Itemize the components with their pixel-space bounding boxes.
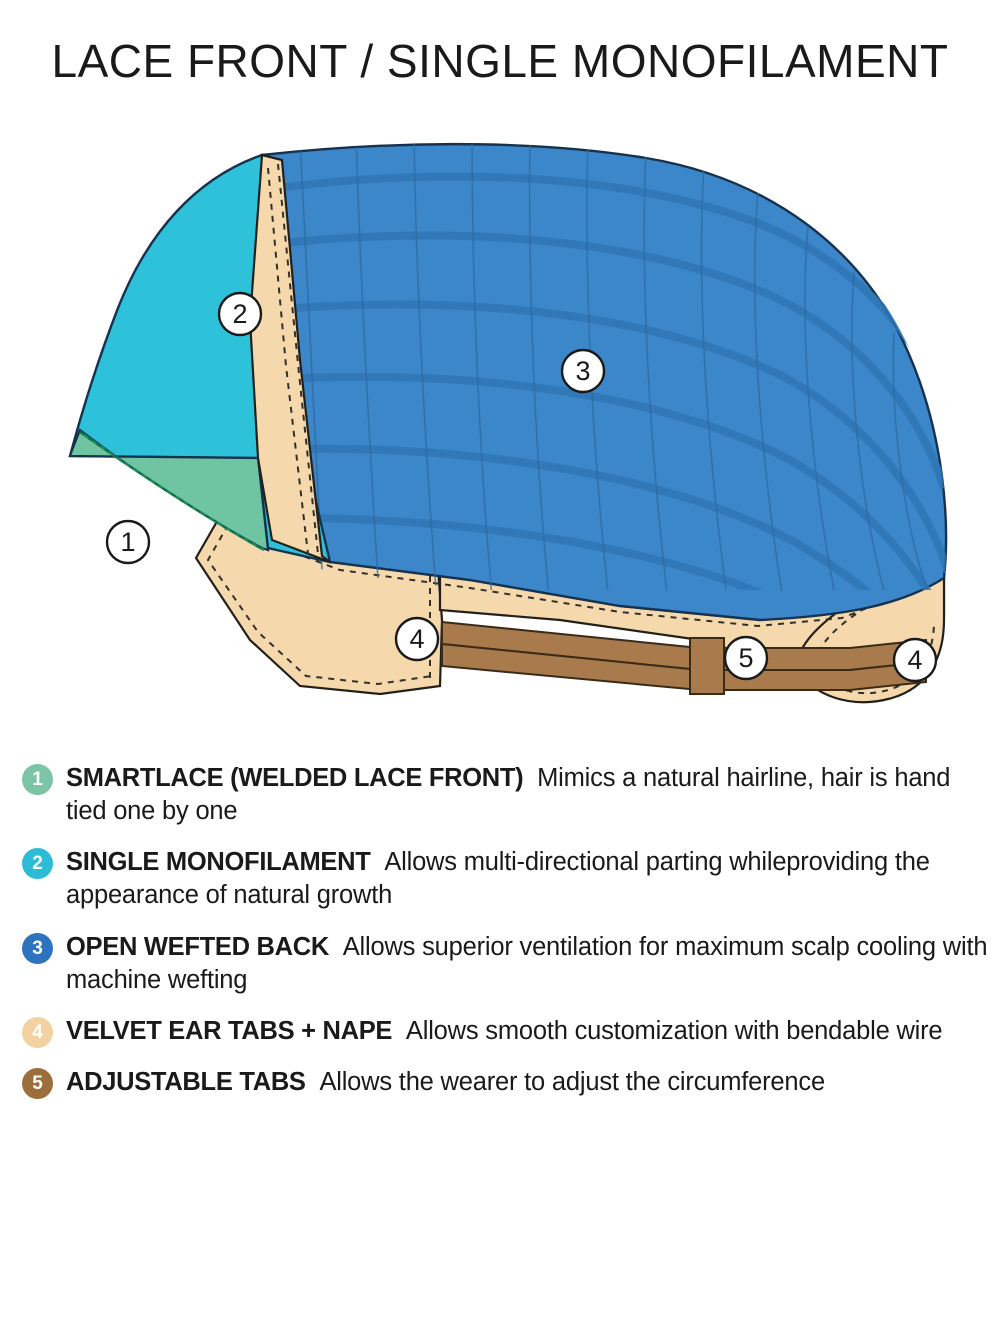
legend-desc-4: Allows smooth customization with bendabl… (406, 1017, 942, 1045)
diagram-callout-1: 1 (107, 521, 149, 563)
diagram-callout-3-label: 3 (575, 356, 590, 386)
legend-term-1: SMARTLACE (WELDED LACE FRONT) (66, 764, 523, 792)
legend-item-5: 5 ADJUSTABLE TABS Allows the wearer to a… (0, 1066, 1000, 1099)
diagram-callout-2: 2 (219, 293, 261, 335)
diagram-callout-5: 5 (725, 637, 767, 679)
diagram-callout-4-right: 4 (894, 639, 936, 681)
legend-item-1: 1 SMARTLACE (WELDED LACE FRONT) Mimics a… (0, 762, 1000, 828)
legend-item-2: 2 SINGLE MONOFILAMENT Allows multi-direc… (0, 846, 1000, 912)
legend-badge-4: 4 (22, 1017, 53, 1048)
legend-text-5: ADJUSTABLE TABS Allows the wearer to adj… (66, 1066, 990, 1099)
legend-text-4: VELVET EAR TABS + NAPE Allows smooth cus… (66, 1015, 990, 1048)
legend-badge-5-number: 5 (32, 1074, 43, 1093)
diagram-callout-1-label: 1 (120, 527, 135, 557)
legend-text-3: OPEN WEFTED BACK Allows superior ventila… (66, 931, 990, 997)
diagram-callout-2-label: 2 (232, 299, 247, 329)
legend-desc-5: Allows the wearer to adjust the circumfe… (319, 1068, 824, 1096)
wig-cap-diagram: 1 2 3 4 5 4 (0, 120, 1000, 740)
legend-term-3: OPEN WEFTED BACK (66, 933, 329, 961)
legend-item-4: 4 VELVET EAR TABS + NAPE Allows smooth c… (0, 1015, 1000, 1048)
legend-badge-5: 5 (22, 1068, 53, 1099)
legend-text-1: SMARTLACE (WELDED LACE FRONT) Mimics a n… (66, 762, 990, 828)
page-title: LACE FRONT / SINGLE MONOFILAMENT (0, 34, 1000, 88)
legend-term-2: SINGLE MONOFILAMENT (66, 848, 371, 876)
legend-text-2: SINGLE MONOFILAMENT Allows multi-directi… (66, 846, 990, 912)
legend-badge-3-number: 3 (32, 939, 43, 958)
legend-term-4: VELVET EAR TABS + NAPE (66, 1017, 392, 1045)
legend-badge-4-number: 4 (32, 1023, 43, 1042)
diagram-callout-4-left-label: 4 (409, 624, 424, 654)
wig-cap-diagram-svg: 1 2 3 4 5 4 (0, 120, 1000, 740)
legend-badge-2: 2 (22, 848, 53, 879)
legend-term-5: ADJUSTABLE TABS (66, 1068, 306, 1096)
legend-badge-1-number: 1 (32, 770, 43, 789)
legend-badge-3: 3 (22, 933, 53, 964)
diagram-callout-5-label: 5 (738, 643, 753, 673)
legend-badge-1: 1 (22, 764, 53, 795)
diagram-callout-4-left: 4 (396, 618, 438, 660)
diagram-callout-3: 3 (562, 350, 604, 392)
legend-list: 1 SMARTLACE (WELDED LACE FRONT) Mimics a… (0, 762, 1000, 1099)
diagram-callout-4-right-label: 4 (907, 645, 922, 675)
legend-item-3: 3 OPEN WEFTED BACK Allows superior venti… (0, 931, 1000, 997)
legend-badge-2-number: 2 (32, 854, 43, 873)
